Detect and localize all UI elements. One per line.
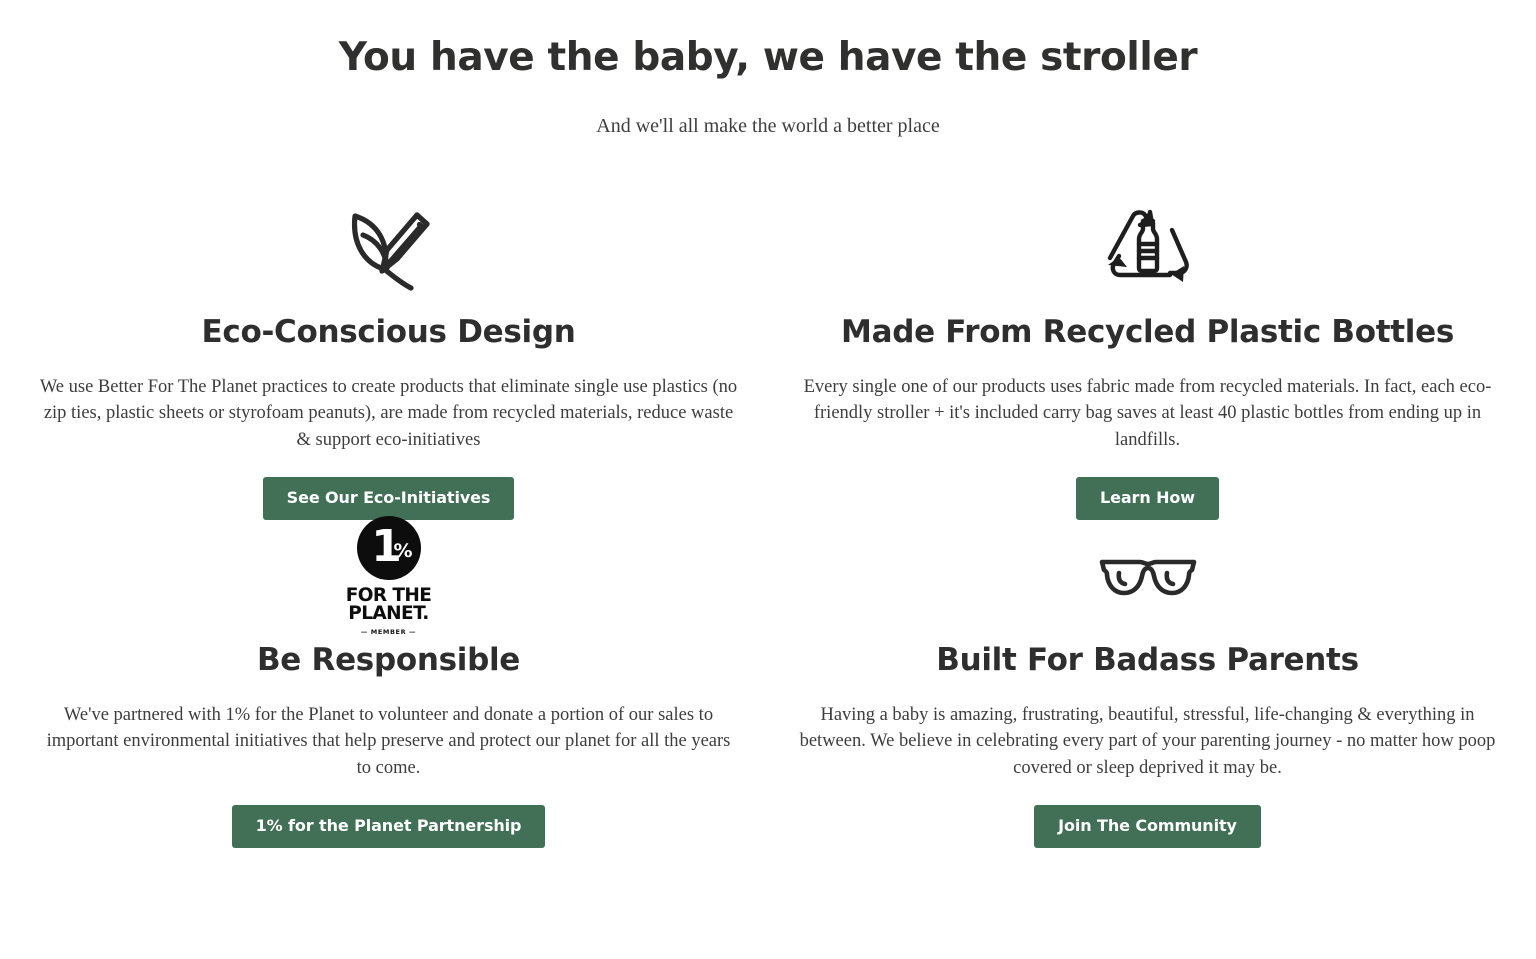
- sunglasses-icon: [1098, 520, 1198, 632]
- eco-features-page: You have the baby, we have the stroller …: [0, 0, 1536, 959]
- feature-card-built-for-badass-parents: Built For Badass Parents Having a baby i…: [775, 520, 1520, 848]
- feature-card-be-responsible: 1 % FOR THE PLANET. — MEMBER — Be Respon…: [16, 520, 761, 848]
- feature-title: Be Responsible: [257, 640, 520, 680]
- feature-card-eco-conscious-design: Eco-Conscious Design We use Better For T…: [16, 196, 761, 520]
- join-the-community-button[interactable]: Join The Community: [1034, 805, 1261, 848]
- feature-title: Eco-Conscious Design: [202, 312, 576, 352]
- learn-how-button[interactable]: Learn How: [1076, 477, 1219, 520]
- logo-line-two: PLANET.: [348, 605, 428, 623]
- recycle-bottle-icon: [1100, 196, 1196, 300]
- page-subtitle: And we'll all make the world a better pl…: [0, 112, 1536, 140]
- feature-description: We've partnered with 1% for the Planet t…: [39, 702, 739, 781]
- page-header: You have the baby, we have the stroller …: [0, 0, 1536, 140]
- one-percent-circle-icon: 1 %: [357, 516, 421, 580]
- one-percent-for-the-planet-partnership-button[interactable]: 1% for the Planet Partnership: [232, 805, 546, 848]
- one-percent-for-the-planet-logo: 1 % FOR THE PLANET. — MEMBER —: [346, 520, 432, 632]
- feature-card-recycled-plastic-bottles: Made From Recycled Plastic Bottles Every…: [775, 196, 1520, 520]
- feature-title: Built For Badass Parents: [936, 640, 1358, 680]
- feature-description: Having a baby is amazing, frustrating, b…: [798, 702, 1498, 781]
- feature-grid: Eco-Conscious Design We use Better For T…: [0, 196, 1536, 848]
- logo-member-label: — MEMBER —: [361, 628, 416, 636]
- feature-title: Made From Recycled Plastic Bottles: [841, 312, 1454, 352]
- logo-percent: %: [393, 542, 412, 561]
- feature-description: Every single one of our products uses fa…: [798, 374, 1498, 453]
- see-our-eco-initiatives-button[interactable]: See Our Eco-Initiatives: [263, 477, 515, 520]
- feature-description: We use Better For The Planet practices t…: [39, 374, 739, 453]
- page-title: You have the baby, we have the stroller: [0, 34, 1536, 83]
- leaf-pencil-icon: [339, 196, 439, 300]
